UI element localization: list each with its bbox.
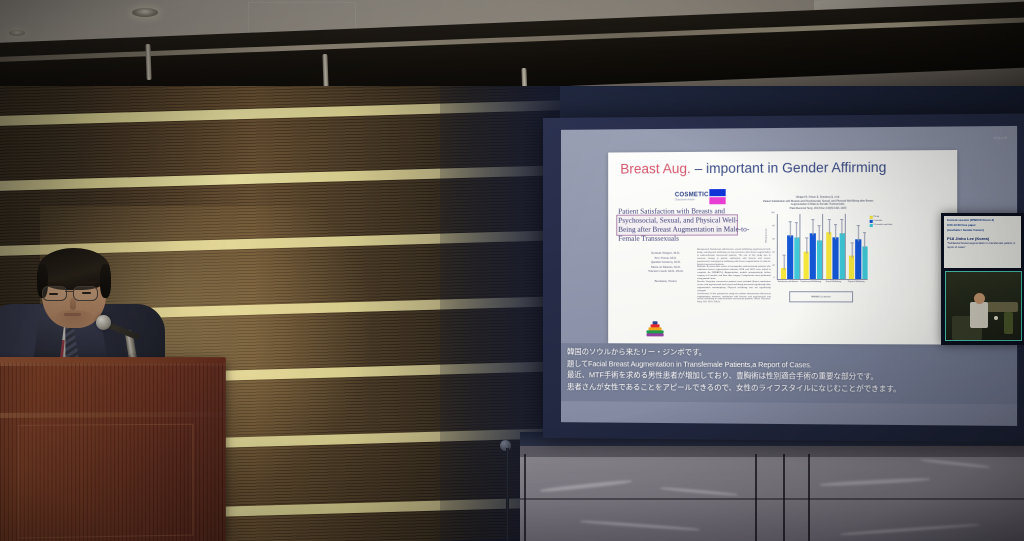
chart-group-divider xyxy=(799,214,800,279)
swatch-pink xyxy=(710,197,726,204)
conference-photo-scene: PSJ-P Breast Aug. – important in Gender … xyxy=(0,0,1024,541)
legend-item: Preop xyxy=(870,216,905,219)
chart-group-divider xyxy=(822,214,823,279)
chart-plot-area xyxy=(777,214,868,280)
presentation-id: P18 xyxy=(947,236,954,241)
chart-x-tick-label: Psychosocial Well-being xyxy=(799,281,822,283)
eye-right xyxy=(82,292,91,294)
slide-title-accent: Breast Aug. xyxy=(620,161,691,177)
journal-sub-label: Outcomes Article xyxy=(675,198,709,201)
bar-12months xyxy=(817,240,822,279)
chart-x-axis-title: BREAST-Q domain xyxy=(789,291,853,302)
legend-swatch xyxy=(870,220,873,223)
legend-label: 4 months xyxy=(873,220,882,222)
microphone-head-icon xyxy=(96,315,111,330)
chart-y-tick: 0 xyxy=(767,277,775,279)
journal-brand-row: COSMETIC Outcomes Article xyxy=(675,189,726,204)
chart-legend: Preop 4 months 12 months and later xyxy=(870,216,905,228)
marble-vein xyxy=(820,477,930,487)
presenter-name: Jinho Lee (Korea) xyxy=(955,236,989,241)
session-label: Current session (IPSRCD Room 3) xyxy=(947,219,1018,223)
marble-horizontal-seam xyxy=(520,498,1024,500)
marble-vein xyxy=(920,458,990,468)
bar-preop xyxy=(804,252,809,279)
subtitle-line: 患者さんが女性であることをアピールできるので、女性のライフスタイルになじむことが… xyxy=(567,381,1011,396)
marble-vein xyxy=(840,523,980,536)
bar-4months xyxy=(833,237,838,279)
legend-item: 12 months and later xyxy=(870,224,905,227)
chart-y-tick: 40 xyxy=(767,252,775,254)
feed-table xyxy=(986,302,1018,312)
bar-12months xyxy=(839,233,844,279)
bar-preop xyxy=(849,256,854,279)
screen-corner-note: PSJ-P xyxy=(994,135,1008,140)
chart-group-divider xyxy=(845,214,846,279)
marble-horizontal-seam xyxy=(520,446,1024,457)
chart-bar-group xyxy=(849,239,868,279)
presentation-slide: Breast Aug. – important in Gender Affirm… xyxy=(608,150,957,345)
chart-x-tick-label: Sexual Well-being xyxy=(822,281,845,283)
bar-4months xyxy=(810,233,815,279)
slide-citation: Weigert R, Frison E, Sessiecq Q, et al. … xyxy=(760,195,875,210)
pyramid-tier xyxy=(646,333,663,336)
ceiling-panel-seam xyxy=(248,2,249,34)
light-stand-pole xyxy=(506,448,509,540)
podium-top-edge xyxy=(0,357,226,366)
legend-label: Preop xyxy=(873,216,879,218)
feed-highlight xyxy=(994,316,998,320)
bar-12months xyxy=(862,246,867,279)
abstract-title: "Subfascial breast augmentation in trans… xyxy=(947,242,1018,249)
legend-swatch xyxy=(870,224,873,227)
feed-speaker-head xyxy=(974,293,985,304)
marble-joint xyxy=(783,454,785,541)
marble-joint xyxy=(755,454,757,541)
podium xyxy=(0,363,226,541)
feed-plant xyxy=(1004,312,1013,334)
downlight-icon xyxy=(9,30,25,36)
bar-preop xyxy=(826,232,831,279)
paper-authors: Romain Weigert, M.D. Eric Frison, M.D. Q… xyxy=(630,251,701,283)
side-monitor: Current session (IPSRCD Room 3) 9:00-10:… xyxy=(941,213,1024,345)
legend-label: 12 months and later xyxy=(873,224,892,226)
session-track-label: (Aesthetic / Gender Cancer) xyxy=(947,229,1018,233)
bar-preop xyxy=(781,267,786,279)
breast-q-bar-chart: Mean Q-score 100 80 60 40 20 0 xyxy=(758,210,882,304)
chart-x-tick-label: Physical Well-being xyxy=(845,281,868,283)
bar-4months xyxy=(787,235,792,279)
mouth xyxy=(64,313,81,316)
podium-trim-band xyxy=(0,412,226,418)
marble-vein xyxy=(540,479,632,493)
paper-title: Patient Satisfaction with Breasts and Ps… xyxy=(618,207,755,244)
chart-y-tick: 80 xyxy=(767,225,775,227)
journal-color-swatches xyxy=(710,189,726,204)
chart-y-tick: 100 xyxy=(767,212,775,214)
glasses-bridge xyxy=(65,291,73,292)
subtitle-overlay: 韓国のソウルから来たリー・ジンボです。 題してFacial Breast Aug… xyxy=(561,343,1017,404)
chart-y-tick: 60 xyxy=(767,238,775,240)
paper-thumbnail: COSMETIC Outcomes Article Patient Satisf… xyxy=(618,192,770,193)
slide-title-rest: – important in Gender Affirming xyxy=(691,160,887,176)
bar-12months xyxy=(794,237,799,279)
marble-wall-base xyxy=(520,432,1024,541)
legend-swatch xyxy=(870,216,873,219)
marble-vein xyxy=(580,520,700,531)
ceiling-panel-seam xyxy=(248,2,356,3)
nose xyxy=(70,298,76,310)
presenter-line: P18 Jinho Lee (Korea) xyxy=(947,236,1018,241)
marble-joint xyxy=(524,454,526,541)
downlight-icon xyxy=(132,8,158,17)
feed-speaker-body xyxy=(970,302,988,328)
bar-4months xyxy=(856,239,861,279)
legend-item: 4 months xyxy=(870,220,905,223)
session-info-panel: Current session (IPSRCD Room 3) 9:00-10:… xyxy=(944,216,1021,268)
live-camera-feed xyxy=(945,271,1022,341)
eye-left xyxy=(49,293,58,295)
marble-vein xyxy=(660,487,738,497)
chart-bar-group xyxy=(826,232,845,279)
slide-title: Breast Aug. – important in Gender Affirm… xyxy=(620,160,886,177)
chart-bar-group xyxy=(781,235,799,279)
swatch-blue xyxy=(710,189,726,196)
chart-bar-group xyxy=(804,233,822,279)
session-time-label: 9:00-10:20 Free paper xyxy=(947,224,1018,228)
chart-x-tick-label: Satisfaction with Breasts xyxy=(777,281,800,283)
chart-y-tick: 20 xyxy=(767,265,775,267)
marble-joint xyxy=(808,454,810,541)
podium-front-panel xyxy=(18,424,193,539)
